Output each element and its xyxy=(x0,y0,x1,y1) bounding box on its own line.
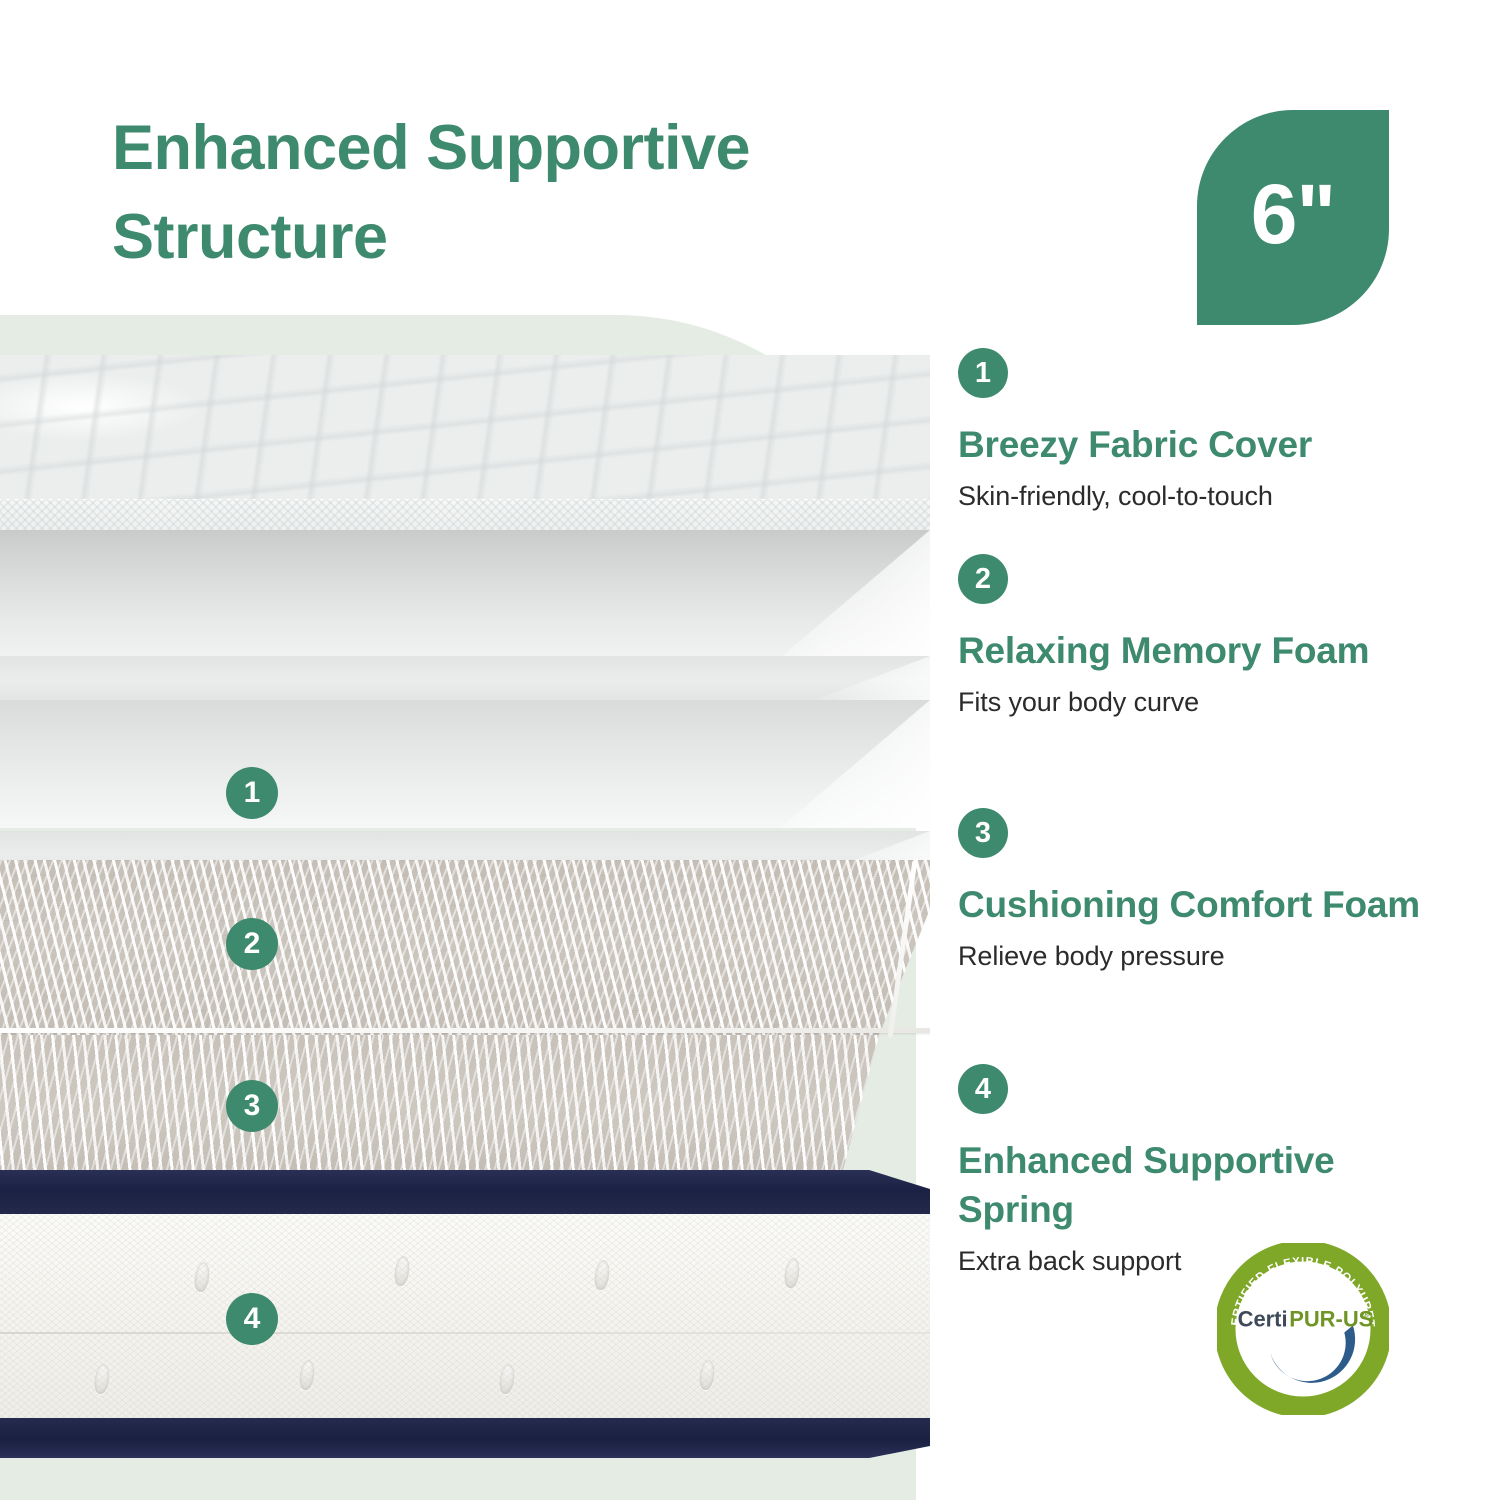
feature-title-4: Enhanced Supportive Spring xyxy=(958,1136,1428,1234)
spring-wire-edge xyxy=(0,1028,930,1033)
spring-coil-top xyxy=(0,860,930,1035)
diagram-marker-3: 3 xyxy=(226,1080,278,1132)
seal-wordmark-certi: Certi xyxy=(1238,1306,1288,1331)
comfort-foam-face xyxy=(0,700,930,828)
feature-number-badge-4: 4 xyxy=(958,1064,1008,1114)
size-badge-label: 6" xyxy=(1251,172,1336,256)
navy-trim-top xyxy=(0,1170,930,1216)
feature-number-badge-1: 1 xyxy=(958,348,1008,398)
seal-wordmark-purus: PUR-US xyxy=(1289,1306,1373,1331)
base-emboss xyxy=(698,1359,716,1391)
feature-item-1: 1 Breezy Fabric Cover Skin-friendly, coo… xyxy=(958,348,1428,514)
base-emboss xyxy=(783,1257,801,1289)
base-emboss xyxy=(593,1259,611,1291)
feature-title-3: Cushioning Comfort Foam xyxy=(958,880,1428,929)
memory-foam-face xyxy=(0,530,930,658)
diagram-marker-2: 2 xyxy=(226,918,278,970)
feature-item-2: 2 Relaxing Memory Foam Fits your body cu… xyxy=(958,554,1428,720)
feature-desc-2: Fits your body curve xyxy=(958,685,1428,720)
base-emboss xyxy=(93,1363,111,1395)
layer-spring-unit xyxy=(0,860,930,1200)
base-emboss xyxy=(393,1255,411,1287)
diagram-marker-1: 1 xyxy=(226,767,278,819)
seal-registered-mark: ® xyxy=(1363,1309,1370,1319)
infographic-page: Enhanced Supportive Structure 6" xyxy=(0,0,1500,1500)
feature-desc-1: Skin-friendly, cool-to-touch xyxy=(958,479,1428,514)
feature-item-3: 3 Cushioning Comfort Foam Relieve body p… xyxy=(958,808,1428,974)
feature-number-badge-3: 3 xyxy=(958,808,1008,858)
feature-desc-3: Relieve body pressure xyxy=(958,939,1428,974)
layer-fabric-cover xyxy=(0,355,930,555)
layer-memory-foam xyxy=(0,530,930,700)
layer-comfort-foam xyxy=(0,700,930,875)
mattress-base xyxy=(0,1170,930,1500)
certipur-seal-icon: CONTAINS CERTIFIED FLEXIBLE POLYURETHANE… xyxy=(1217,1243,1389,1415)
diagram-marker-4: 4 xyxy=(226,1293,278,1345)
base-side-panel xyxy=(0,1214,930,1424)
navy-trim-bottom xyxy=(0,1418,930,1458)
spring-coil-bottom xyxy=(0,1035,930,1185)
feature-number-badge-2: 2 xyxy=(958,554,1008,604)
memory-foam-bottom xyxy=(0,656,930,700)
feature-title-2: Relaxing Memory Foam xyxy=(958,626,1428,675)
feature-title-1: Breezy Fabric Cover xyxy=(958,420,1428,469)
mattress-diagram: 1 2 3 4 xyxy=(0,315,930,1500)
page-title: Enhanced Supportive Structure xyxy=(112,104,992,283)
cover-quilt-texture xyxy=(0,355,930,505)
base-emboss xyxy=(193,1261,211,1293)
size-badge: 6" xyxy=(1197,110,1389,325)
base-emboss xyxy=(298,1359,316,1391)
base-seam xyxy=(0,1332,930,1334)
certipur-us-seal: CONTAINS CERTIFIED FLEXIBLE POLYURETHANE… xyxy=(1217,1243,1389,1415)
base-emboss xyxy=(498,1363,516,1395)
